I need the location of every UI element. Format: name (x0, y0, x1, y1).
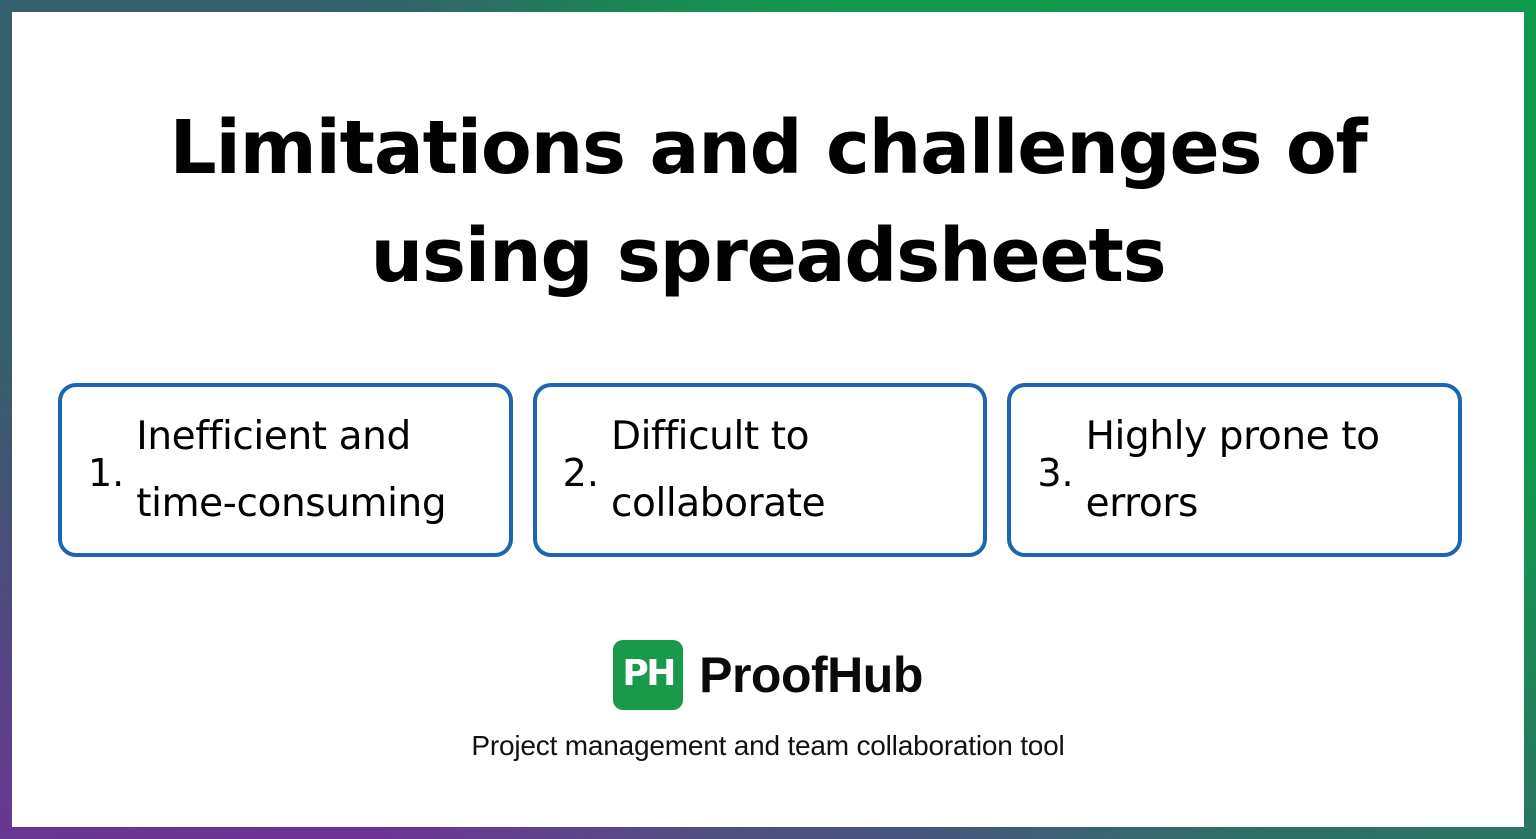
challenge-cards-row: 1. Inefficient and time-consuming 2. Dif… (58, 383, 1462, 557)
challenge-card-2-line-1: Difficult to (611, 403, 825, 470)
challenge-card-3-number: 3. (1037, 448, 1073, 492)
proofhub-wordmark: ProofHub (699, 650, 923, 700)
challenge-card-3-line-2: errors (1086, 470, 1380, 537)
challenge-card-2-label: Difficult to collaborate (611, 403, 825, 537)
challenge-card-2: 2. Difficult to collaborate (533, 383, 988, 557)
proofhub-logo-icon: PH (613, 640, 683, 710)
proofhub-logo: PH ProofHub (613, 640, 923, 710)
challenge-card-1-label: Inefficient and time-consuming (136, 403, 446, 537)
challenge-card-1-line-2: time-consuming (136, 470, 446, 537)
challenge-card-3-label: Highly prone to errors (1086, 403, 1380, 537)
challenge-card-1-number: 1. (88, 448, 124, 492)
page-title-line-1: Limitations and challenges of (12, 94, 1524, 202)
challenge-card-3: 3. Highly prone to errors (1007, 383, 1462, 557)
brand-footer: PH ProofHub Project management and team … (12, 640, 1524, 762)
page-title: Limitations and challenges of using spre… (12, 94, 1524, 310)
content-canvas: Limitations and challenges of using spre… (12, 12, 1524, 827)
challenge-card-3-line-1: Highly prone to (1086, 403, 1380, 470)
challenge-card-2-line-2: collaborate (611, 470, 825, 537)
challenge-card-2-number: 2. (563, 448, 599, 492)
brand-tagline: Project management and team collaboratio… (12, 730, 1524, 762)
page-title-line-2: using spreadsheets (12, 202, 1524, 310)
infographic-frame: Limitations and challenges of using spre… (0, 0, 1536, 839)
challenge-card-1-line-1: Inefficient and (136, 403, 446, 470)
challenge-card-1: 1. Inefficient and time-consuming (58, 383, 513, 557)
proofhub-logo-monogram: PH (622, 656, 674, 692)
